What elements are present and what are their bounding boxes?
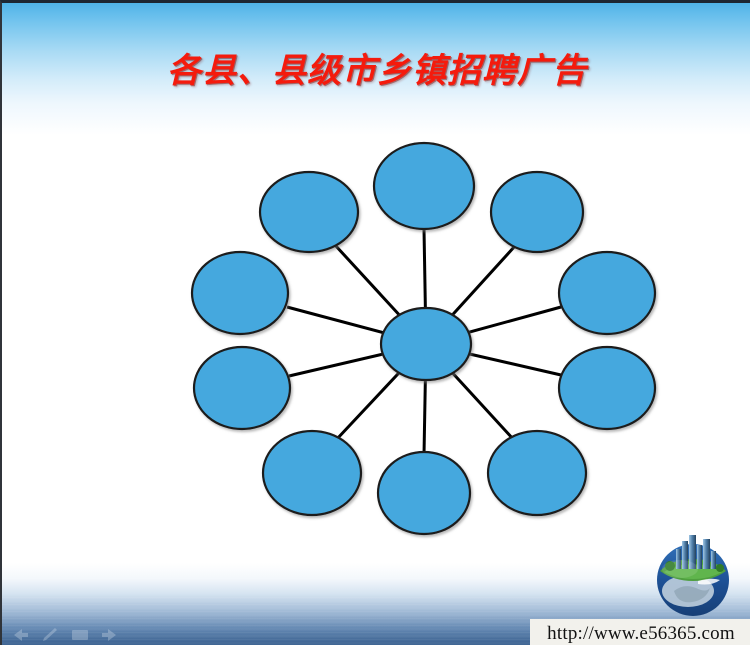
next-slide-icon[interactable] [100, 627, 120, 643]
globe-city-logo [640, 525, 746, 621]
slide-menu-icon[interactable] [70, 627, 90, 643]
diagram-node-left-lower[interactable] [194, 347, 290, 429]
diagram-node-upper-right[interactable] [491, 172, 583, 252]
diagram-node-top[interactable] [374, 143, 474, 229]
node-group [192, 143, 655, 534]
diagram-node-bottom[interactable] [378, 452, 470, 534]
diagram-node-right-lower[interactable] [559, 347, 655, 429]
diagram-node-right-upper[interactable] [559, 252, 655, 334]
diagram-node-left-upper[interactable] [192, 252, 288, 334]
diagram-node-lower-right[interactable] [488, 431, 586, 515]
diagram-node-upper-left[interactable] [260, 172, 358, 252]
slideshow-nav-controls[interactable] [10, 625, 118, 645]
slide-canvas: 各县、县级市乡镇招聘广告 [0, 0, 750, 645]
radial-diagram [2, 3, 750, 645]
url-watermark: http://www.e56365.com [530, 619, 750, 645]
previous-slide-icon[interactable] [10, 627, 30, 643]
pen-tool-icon[interactable] [40, 627, 60, 643]
diagram-node-center[interactable] [381, 308, 471, 380]
diagram-node-lower-left[interactable] [263, 431, 361, 515]
